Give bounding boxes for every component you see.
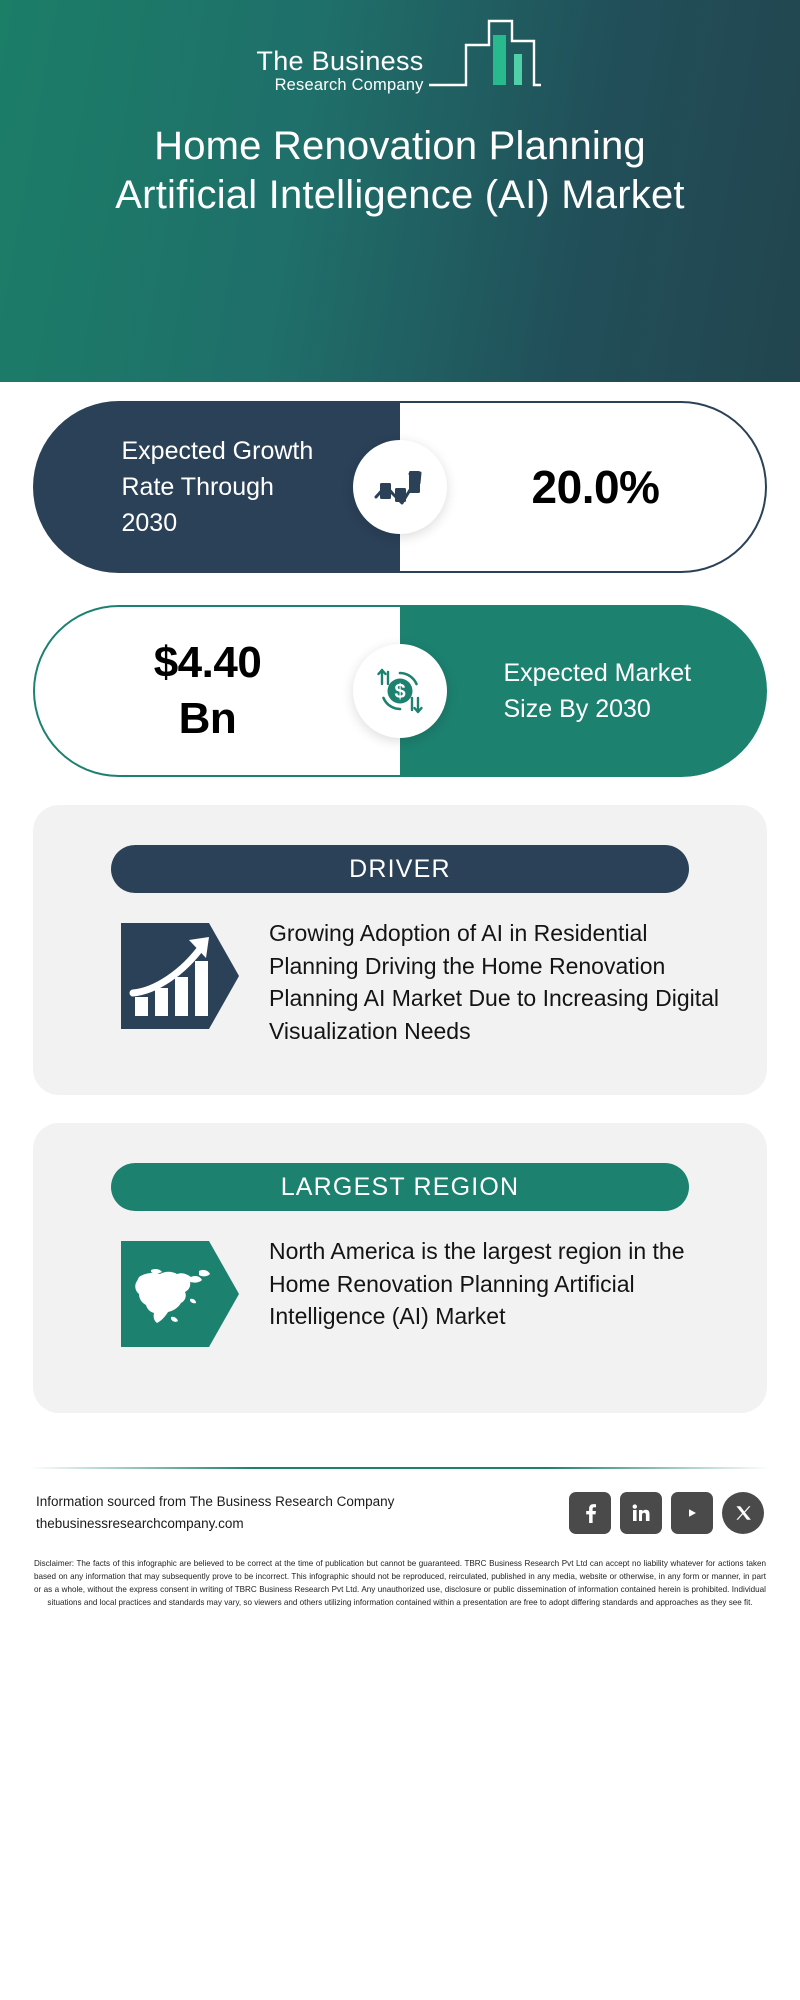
stat-label-growth-rate: Expected Growth Rate Through 2030 xyxy=(122,433,318,541)
stat-value-amount: $4.40 xyxy=(154,635,262,691)
bar-chart-logo-icon xyxy=(426,17,544,98)
page-title: Home Renovation Planning Artificial Inte… xyxy=(80,122,720,220)
svg-text:$: $ xyxy=(394,681,405,703)
panel-heading-driver: DRIVER xyxy=(111,845,689,893)
company-logo: The Business Research Company xyxy=(0,18,800,102)
logo-line-1: The Business xyxy=(256,48,423,76)
dollar-circular-arrows-icon: $ xyxy=(353,644,447,738)
logo-wordmark: The Business Research Company xyxy=(256,48,423,102)
stat-label-panel: Expected Market Size By 2030 xyxy=(400,605,767,777)
footer-source-line-1: Information sourced from The Business Re… xyxy=(36,1491,394,1513)
header-banner: The Business Research Company Home Renov… xyxy=(0,0,800,382)
north-america-map-icon xyxy=(121,1233,243,1355)
facebook-icon[interactable] xyxy=(569,1492,611,1534)
logo-line-2: Research Company xyxy=(256,76,423,96)
stat-label-market-size: Expected Market Size By 2030 xyxy=(504,655,694,727)
footer-source: Information sourced from The Business Re… xyxy=(36,1491,394,1535)
footer-source-line-2[interactable]: thebusinessresearchcompany.com xyxy=(36,1513,394,1535)
youtube-icon[interactable] xyxy=(671,1492,713,1534)
panel-text-largest-region: North America is the largest region in t… xyxy=(269,1233,729,1333)
rising-bar-chart-arrow-icon xyxy=(121,915,243,1037)
x-twitter-icon[interactable] xyxy=(722,1492,764,1534)
panel-text-driver: Growing Adoption of AI in Residential Pl… xyxy=(269,915,729,1048)
stat-value-panel: $4.40 Bn xyxy=(33,605,400,777)
linkedin-icon[interactable] xyxy=(620,1492,662,1534)
stat-card-market-size: $4.40 Bn Expected Market Size By 2030 $ xyxy=(33,605,767,777)
infographic-page: The Business Research Company Home Renov… xyxy=(0,0,800,2000)
panel-heading-largest-region: LARGEST REGION xyxy=(111,1163,689,1211)
footer: Information sourced from The Business Re… xyxy=(0,1467,800,1609)
stat-value-growth-rate: 20.0% xyxy=(532,460,660,514)
stat-card-growth-rate: Expected Growth Rate Through 2030 20.0% xyxy=(33,401,767,573)
panel-driver: DRIVER Growing Adoption of AI in Residen… xyxy=(33,805,767,1095)
growth-chart-arrow-icon xyxy=(353,440,447,534)
stat-value-unit: Bn xyxy=(154,691,262,747)
footer-row: Information sourced from The Business Re… xyxy=(20,1469,780,1535)
stat-value-panel: 20.0% xyxy=(400,401,767,573)
panel-body: North America is the largest region in t… xyxy=(33,1233,767,1355)
stat-label-panel: Expected Growth Rate Through 2030 xyxy=(33,401,400,573)
social-links xyxy=(569,1492,764,1534)
panel-largest-region: LARGEST REGION North America is the larg… xyxy=(33,1123,767,1413)
panel-body: Growing Adoption of AI in Residential Pl… xyxy=(33,915,767,1048)
stat-value-market-size: $4.40 Bn xyxy=(154,635,262,748)
disclaimer-text: Disclaimer: The facts of this infographi… xyxy=(20,1557,780,1609)
